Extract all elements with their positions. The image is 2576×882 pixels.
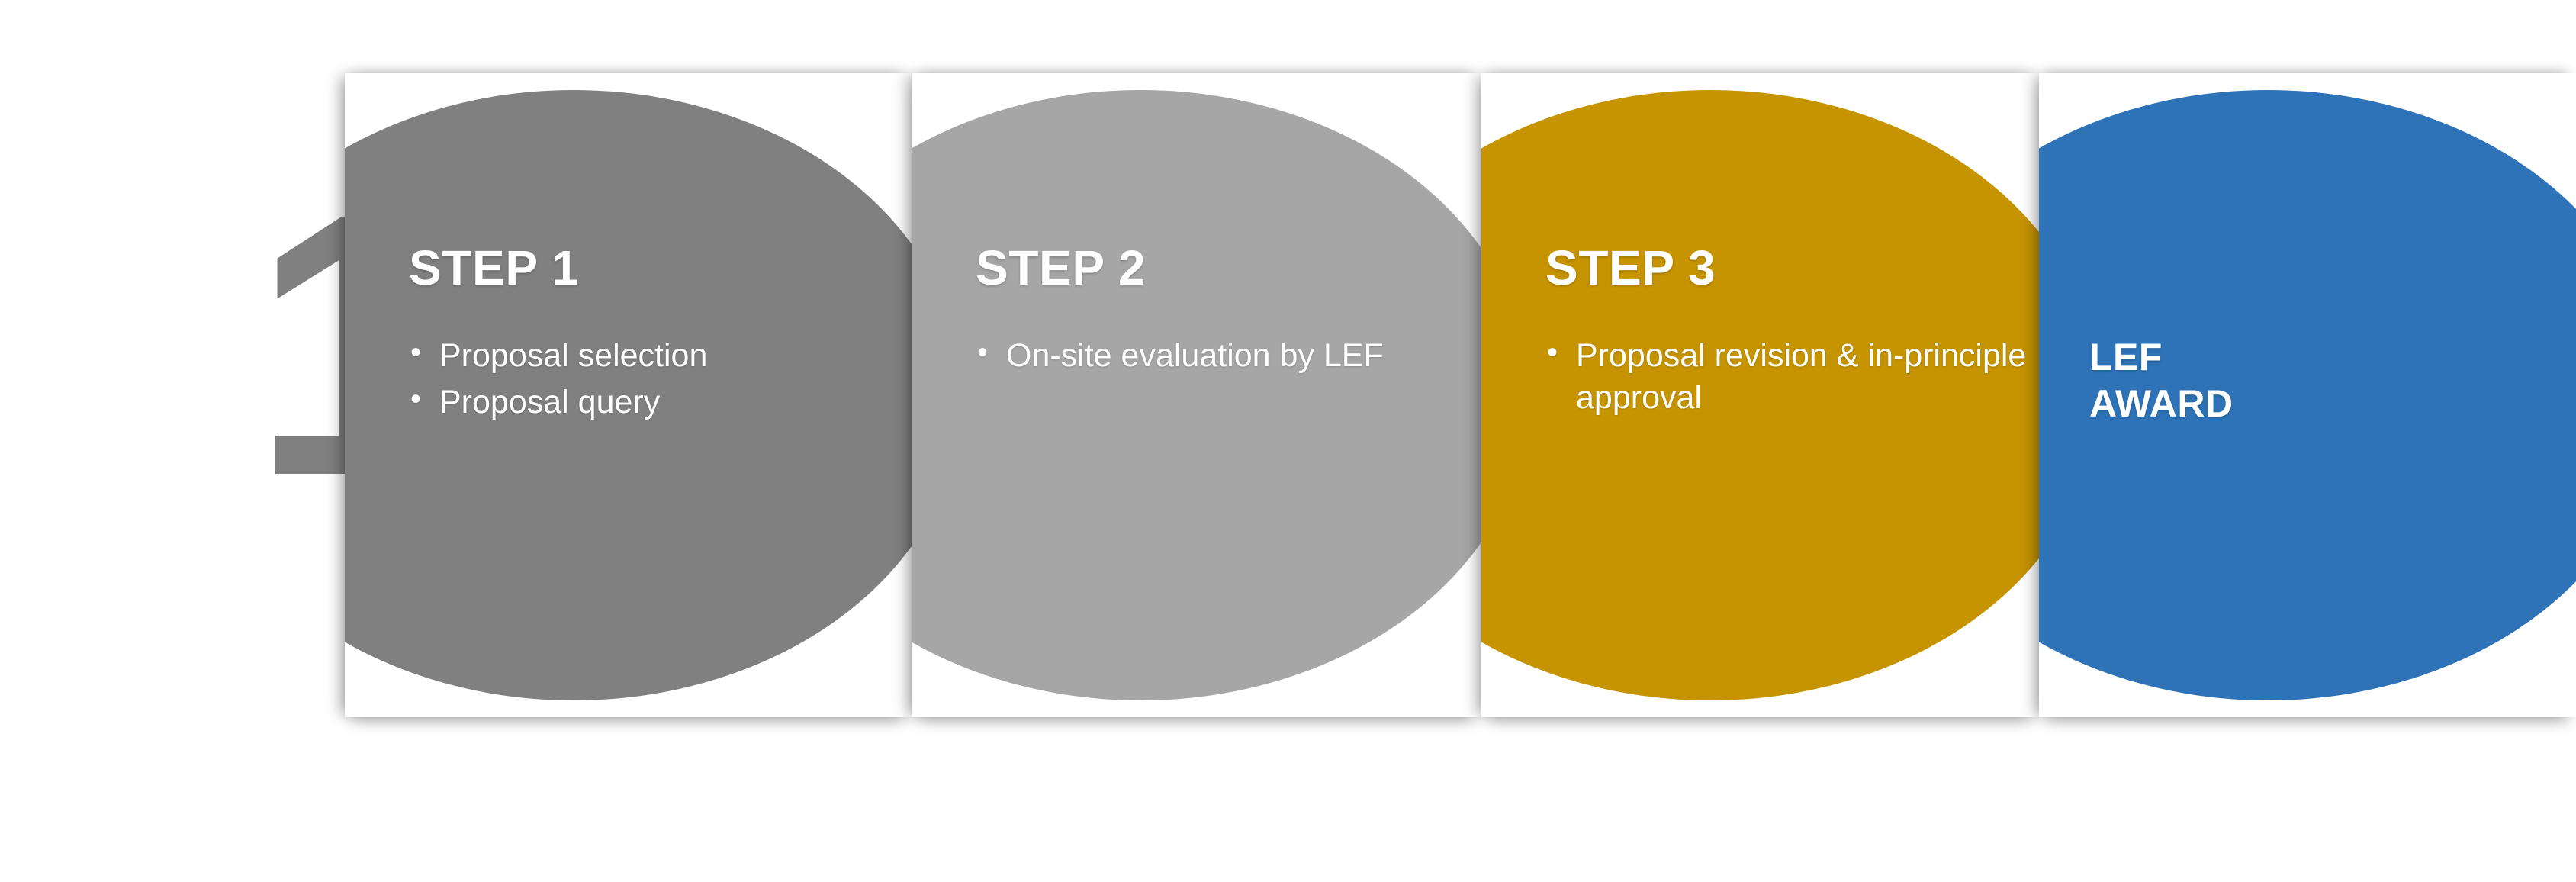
step-title-2: STEP 2 [976,243,1384,294]
step-content-1: STEP 1 Proposal selection Proposal query [409,243,707,428]
step-card-2[interactable]: STEP 2 On-site evaluation by LEF [912,73,1481,717]
step-bullet-list-2: On-site evaluation by LEF [976,335,1384,377]
list-item: Proposal query [409,381,707,423]
step-content-3: STEP 3 Proposal revision & in-principle … [1545,243,2039,423]
list-item: Proposal selection [409,335,707,377]
step-card-1[interactable]: STEP 1 Proposal selection Proposal query [345,73,912,717]
step-content-4: LEF AWARD [2089,334,2233,427]
step-title-1: STEP 1 [409,243,707,294]
step-card-3[interactable]: STEP 3 Proposal revision & in-principle … [1481,73,2039,717]
process-diagram: 1 2 3 4 STEP 1 Proposal selection Propos… [0,0,2576,882]
step-content-2: STEP 2 On-site evaluation by LEF [976,243,1384,381]
list-item: On-site evaluation by LEF [976,335,1384,377]
step-title-3: STEP 3 [1545,243,2039,294]
list-item: Proposal revision & in-principle approva… [1545,335,2039,419]
step-card-4[interactable]: LEF AWARD [2039,73,2576,717]
step-bullet-list-3: Proposal revision & in-principle approva… [1545,335,2039,419]
award-label: LEF AWARD [2089,334,2233,427]
step-bullet-list-1: Proposal selection Proposal query [409,335,707,423]
step-shape-2 [912,90,1481,700]
